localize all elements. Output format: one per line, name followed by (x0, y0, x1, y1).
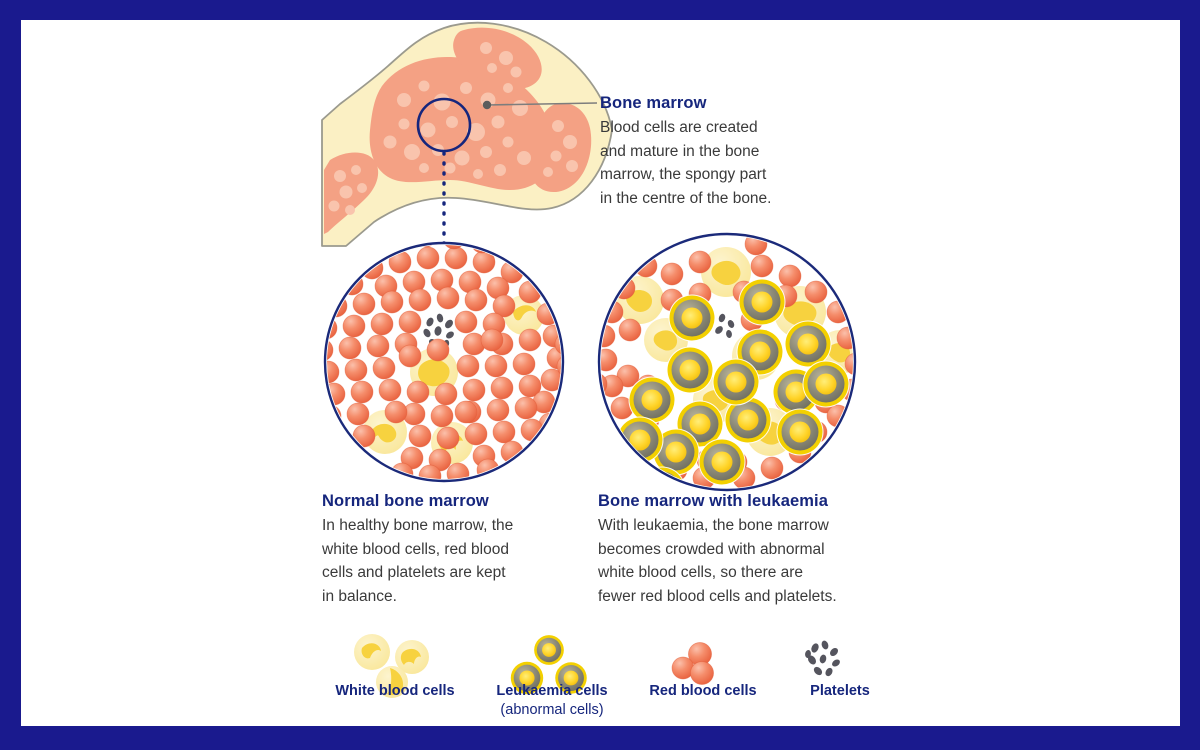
normal-marrow-caption: Normal bone marrow In healthy bone marro… (322, 492, 572, 608)
frame-border-top (0, 0, 1200, 20)
leukaemia-caption-body: With leukaemia, the bone marrow becomes … (598, 514, 888, 608)
legend-item-leukaemia-cells: Leukaemia cells (abnormal cells) (472, 624, 632, 719)
legend-label-leukaemia-cells: Leukaemia cells (472, 682, 632, 701)
leukaemia-marrow-caption: Bone marrow with leukaemia With leukaemi… (598, 492, 888, 608)
legend-label-red-blood-cells: Red blood cells (628, 682, 778, 701)
bone-marrow-callout: Bone marrow Blood cells are created and … (600, 94, 850, 210)
cell-legend: White blood cells Leukaemia cells (abnor… (300, 624, 910, 736)
normal-caption-body: In healthy bone marrow, the white blood … (322, 514, 572, 608)
platelet-icon (770, 624, 910, 682)
red-blood-cell-icon (628, 624, 778, 682)
infographic-page: Bone marrow Blood cells are created and … (0, 0, 1200, 750)
callout-body: Blood cells are created and mature in th… (600, 116, 850, 210)
frame-border-left (0, 0, 21, 750)
legend-item-red-blood-cells: Red blood cells (628, 624, 778, 701)
legend-label-white-blood-cells: White blood cells (300, 682, 490, 701)
normal-caption-title: Normal bone marrow (322, 492, 572, 511)
legend-label-platelets: Platelets (770, 682, 910, 701)
callout-title: Bone marrow (600, 94, 850, 113)
legend-sub-leukaemia-cells: (abnormal cells) (472, 701, 632, 720)
frame-border-right (1180, 0, 1200, 750)
legend-item-platelets: Platelets (770, 624, 910, 701)
leukaemia-caption-title: Bone marrow with leukaemia (598, 492, 888, 511)
legend-item-white-blood-cells: White blood cells (300, 624, 490, 701)
white-blood-cell-icon (300, 624, 490, 682)
leukaemia-cell-icon (472, 624, 632, 682)
